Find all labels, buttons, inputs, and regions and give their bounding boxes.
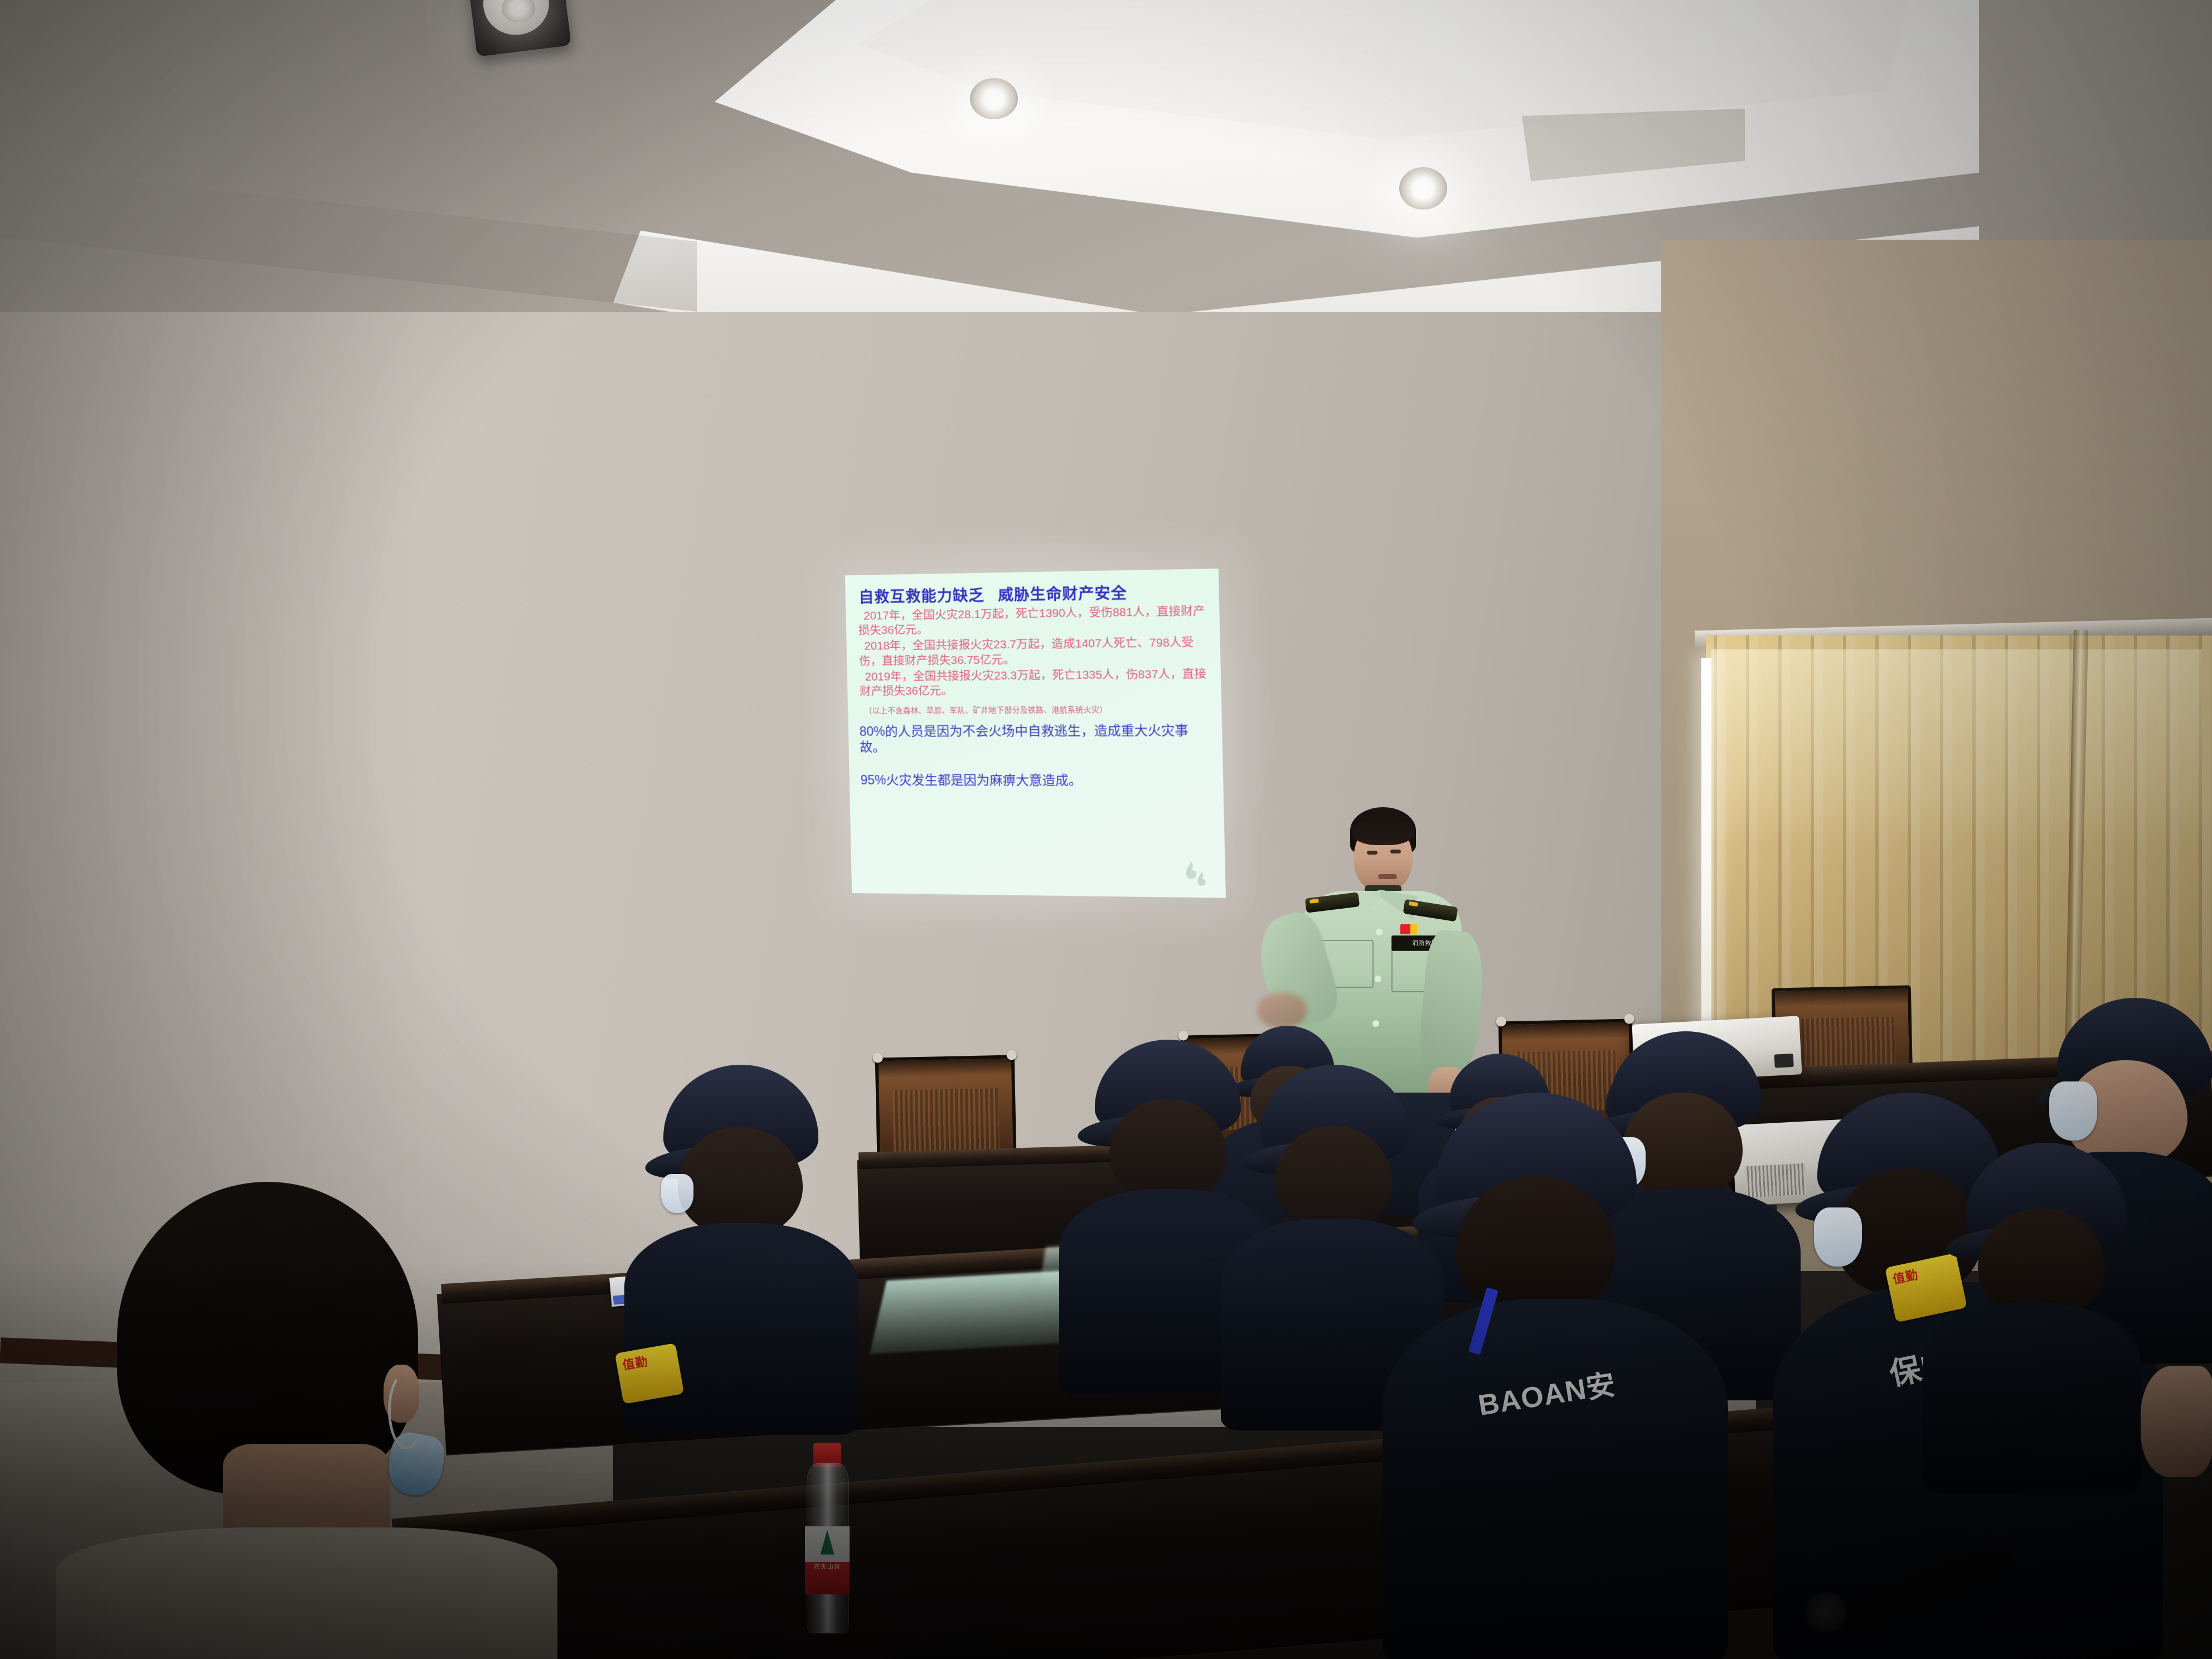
presenter-hand-left	[1258, 992, 1307, 1028]
slide-stat-2018: 2018年，全国共接报火灾23.7万起，造成1407人死亡、798人受伤，直接财…	[858, 636, 1211, 669]
slide-highlight-95: 95%火灾发生都是因为麻痹大意造成。	[860, 772, 1214, 789]
audience-right-guard-2	[1918, 1143, 2141, 1488]
guard-face-mask	[2049, 1081, 2097, 1141]
audience-row2-guard-1: 值勤	[624, 1065, 858, 1422]
guard-armband: 值勤	[615, 1343, 684, 1404]
civilian-mask-strap	[388, 1371, 425, 1449]
guard-head	[1274, 1126, 1393, 1231]
presenter-button-1	[1376, 929, 1382, 935]
presenter-button-3	[1372, 1020, 1379, 1027]
chair-slats	[892, 1088, 1000, 1153]
presenter-flag-pin	[1400, 924, 1417, 934]
guard-torso	[1382, 1299, 1728, 1659]
slide-stat-2019: 2019年，全国共接报火灾23.3万起，死亡1335人，伤837人，直接财产损失…	[859, 667, 1211, 699]
bottle-brand: 农夫山泉	[805, 1562, 849, 1570]
water-bottle[interactable]: 农夫山泉	[798, 1443, 856, 1632]
ceiling-light-1	[970, 78, 1018, 119]
guard-face-mask	[1814, 1207, 1862, 1267]
bottle-label-red: 农夫山泉	[805, 1562, 849, 1594]
guard-head	[1978, 1209, 2105, 1318]
presenter-hair-front	[1352, 816, 1414, 845]
slide-watermark-icon	[1178, 857, 1216, 893]
foreground-hand	[2141, 1366, 2212, 1477]
audience-front-guard-badge-partial: BAOAN安	[1382, 1093, 1728, 1659]
slide-title-left: 自救互救能力缺乏	[858, 587, 984, 606]
training-room-photo: 自救互救能力缺乏威胁生命财产安全 2017年，全国火灾28.1万起，死亡1390…	[0, 0, 2212, 1659]
ceiling-light-2	[1399, 167, 1447, 210]
slide-title-right: 威胁生命财产安全	[998, 585, 1127, 604]
presenter-button-2	[1375, 976, 1381, 982]
audience-front-civilian	[56, 1182, 557, 1659]
projected-slide: 自救互救能力缺乏威胁生命财产安全 2017年，全国火灾28.1万起，死亡1390…	[845, 569, 1226, 898]
guard-head	[1109, 1099, 1226, 1201]
slide-footnote: （以上不含森林、草原、军队、矿井地下部分及铁路、港航系统火灾）	[865, 703, 1212, 716]
guard-head	[678, 1127, 803, 1236]
guard-head	[1456, 1176, 1616, 1316]
presenter-mouth	[1378, 874, 1397, 879]
guard-torso	[624, 1223, 858, 1435]
civilian-shirt	[56, 1527, 557, 1659]
slide-highlight-80: 80%的人员是因为不会火场中自救逃生，造成重大火灾事故。	[859, 722, 1213, 755]
presenter-eye-left	[1367, 851, 1377, 855]
slide-stat-2017: 2017年，全国火灾28.1万起，死亡1390人，受伤881人，直接财产损失36…	[858, 604, 1210, 638]
slide-title: 自救互救能力缺乏威胁生命财产安全	[858, 579, 1210, 607]
guard-face-mask	[661, 1174, 693, 1213]
presenter-eye-right	[1390, 850, 1401, 853]
guard-torso	[1923, 1303, 2141, 1493]
